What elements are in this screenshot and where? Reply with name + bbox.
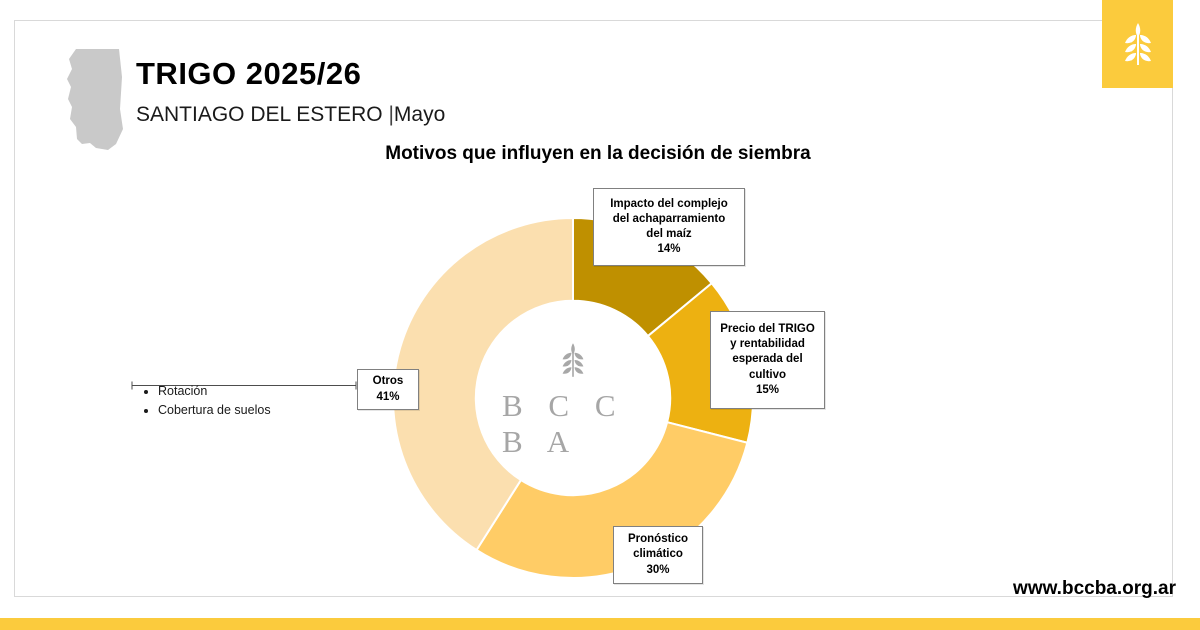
callout-line-4: cultivo bbox=[717, 368, 818, 383]
callout-percent: 14% bbox=[600, 242, 738, 257]
wheat-icon bbox=[1121, 19, 1155, 69]
callout-line-2: y rentabilidad bbox=[717, 337, 818, 352]
brand-badge bbox=[1102, 0, 1173, 88]
list-item: Rotación bbox=[158, 382, 370, 401]
santiago-del-estero-map-shape bbox=[64, 47, 126, 152]
page-title: TRIGO 2025/26 bbox=[136, 56, 361, 92]
chart-title: Motivos que influyen en la decisión de s… bbox=[0, 143, 1200, 165]
callout-percent: 15% bbox=[717, 383, 818, 398]
subtitle-region: SANTIAGO DEL ESTERO bbox=[136, 103, 383, 126]
footer-accent-bar bbox=[0, 618, 1200, 630]
otros-bullet-list: Rotación Cobertura de suelos bbox=[140, 382, 370, 421]
callout-line-2: del achaparramiento bbox=[600, 212, 738, 227]
donut-chart-svg bbox=[393, 218, 753, 578]
callout-achaparramiento[interactable]: Impacto del complejo del achaparramiento… bbox=[593, 188, 745, 266]
callout-line-3: esperada del bbox=[717, 352, 818, 367]
callout-line-1: Otros bbox=[364, 374, 412, 389]
callout-percent: 30% bbox=[620, 563, 696, 578]
subtitle-month: Mayo bbox=[394, 103, 445, 126]
callout-line-3: del maíz bbox=[600, 227, 738, 242]
donut-slice[interactable] bbox=[477, 422, 748, 578]
chart-title-text: Motivos que influyen en la decisión de s… bbox=[385, 143, 811, 165]
slide-canvas: TRIGO 2025/26 SANTIAGO DEL ESTERO |Mayo … bbox=[0, 0, 1200, 630]
donut-chart bbox=[393, 218, 753, 578]
list-item: Cobertura de suelos bbox=[158, 401, 370, 420]
website-url: www.bccba.org.ar bbox=[1013, 578, 1176, 600]
callout-line-2: climático bbox=[620, 547, 696, 562]
page-subtitle: SANTIAGO DEL ESTERO |Mayo bbox=[136, 103, 445, 127]
callout-precio-trigo[interactable]: Precio del TRIGO y rentabilidad esperada… bbox=[710, 311, 825, 409]
callout-percent: 41% bbox=[364, 390, 412, 405]
callout-line-1: Pronóstico bbox=[620, 532, 696, 547]
callout-line-1: Impacto del complejo bbox=[600, 197, 738, 212]
callout-pronostico-climatico[interactable]: Pronóstico climático 30% bbox=[613, 526, 703, 584]
callout-line-1: Precio del TRIGO bbox=[717, 322, 818, 337]
